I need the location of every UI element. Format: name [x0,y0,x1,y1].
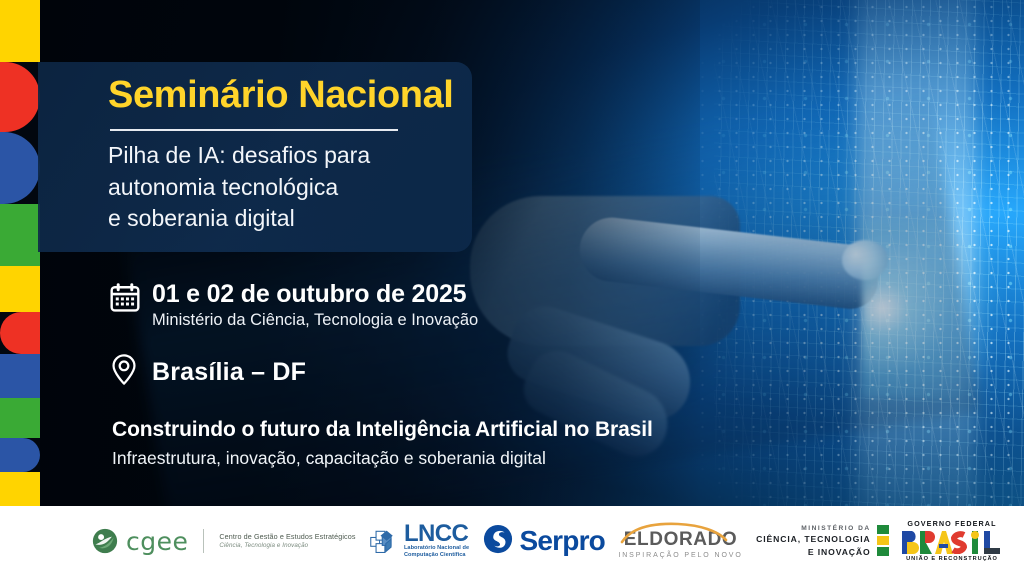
serpro-logo[interactable]: Serpro [483,524,605,559]
date-text-group: 01 e 02 de outubro de 2025 Ministério da… [152,281,478,331]
color-strip-block-2 [0,132,40,204]
event-subtitle: Pilha de IA: desafios para autonomia tec… [108,140,508,235]
color-strip-block-0 [0,0,40,62]
color-strip-block-8 [0,438,40,472]
mcti-flag-bars-icon [877,525,889,556]
eldorado-logo[interactable]: ELDORADO INSPIRAÇÃO PELO NOVO [618,524,742,559]
event-title: Seminário Nacional [108,76,508,116]
color-strip-block-7 [0,398,40,438]
lncc-sub-2: Computação Científica [404,552,469,559]
lncc-wordmark: LNCC [404,523,469,545]
color-strip-block-1 [0,62,40,132]
governo-federal-label: GOVERNO FEDERAL [907,519,996,528]
eldorado-arc-icon [620,522,728,544]
cgee-logo[interactable]: cgee Centro de Gestão e Estudos Estratég… [92,528,356,554]
cgee-tagline-group: Centro de Gestão e Estudos Estratégicos … [219,532,355,550]
event-venue: Ministério da Ciência, Tecnologia e Inov… [152,310,478,331]
ministerio-cti-logo[interactable]: MINISTÉRIO DA CIÊNCIA, TECNOLOGIA E INOV… [756,524,889,559]
color-strip-block-5 [0,312,40,354]
event-subtitle-line-1: Pilha de IA: desafios para [108,140,508,172]
title-divider [110,129,398,131]
location-row: Brasília – DF [108,352,306,392]
calendar-icon [108,281,142,319]
serpro-swirl-icon [483,524,513,559]
brasil-color-strip [0,0,40,508]
brasil-wordmark-icon [902,531,1002,554]
color-strip-block-6 [0,354,40,398]
map-pin-icon [108,352,142,390]
event-subtitle-line-2: autonomia tecnológica [108,172,508,204]
eldorado-tagline: INSPIRAÇÃO PELO NOVO [618,552,742,559]
mcti-text-group: MINISTÉRIO DA CIÊNCIA, TECNOLOGIA E INOV… [756,524,871,559]
cgee-wordmark: cgee [126,529,188,554]
event-location: Brasília – DF [152,352,306,392]
mcti-line-1: MINISTÉRIO DA [756,524,871,534]
cgee-divider [203,529,204,553]
cgee-tagline-1: Centro de Gestão e Estudos Estratégicos [219,532,355,542]
lncc-text-group: LNCC Laboratório Nacional de Computação … [404,523,469,559]
event-date: 01 e 02 de outubro de 2025 [152,281,478,308]
date-row: 01 e 02 de outubro de 2025 Ministério da… [108,281,478,331]
event-subtitle-line-3: e soberania digital [108,203,508,235]
mcti-line-2: CIÊNCIA, TECNOLOGIA [756,533,871,545]
serpro-wordmark: Serpro [520,527,605,555]
event-poster: Seminário Nacional Pilha de IA: desafios… [0,0,1024,576]
lncc-cube-icon [369,526,399,556]
mcti-line-3: E INOVAÇÃO [756,546,871,558]
governo-federal-logo[interactable]: GOVERNO FEDERAL [902,519,1002,563]
color-strip-block-4 [0,266,40,312]
sponsor-logo-bar: cgee Centro de Gestão e Estudos Estratég… [0,506,1024,576]
tagline-block: Construindo o futuro da Inteligência Art… [112,418,653,469]
color-strip-block-3 [0,204,40,266]
cgee-tagline-2: Ciência, Tecnologia e Inovação [219,542,355,550]
lncc-logo[interactable]: LNCC Laboratório Nacional de Computação … [369,523,469,559]
tagline-sub: Infraestrutura, inovação, capacitação e … [112,448,653,469]
cgee-swirl-icon [92,528,118,554]
tagline-main: Construindo o futuro da Inteligência Art… [112,418,653,442]
color-strip-block-9 [0,472,40,508]
lncc-sub-1: Laboratório Nacional de [404,545,469,552]
governo-federal-sublabel: UNIÃO E RECONSTRUÇÃO [906,556,998,563]
